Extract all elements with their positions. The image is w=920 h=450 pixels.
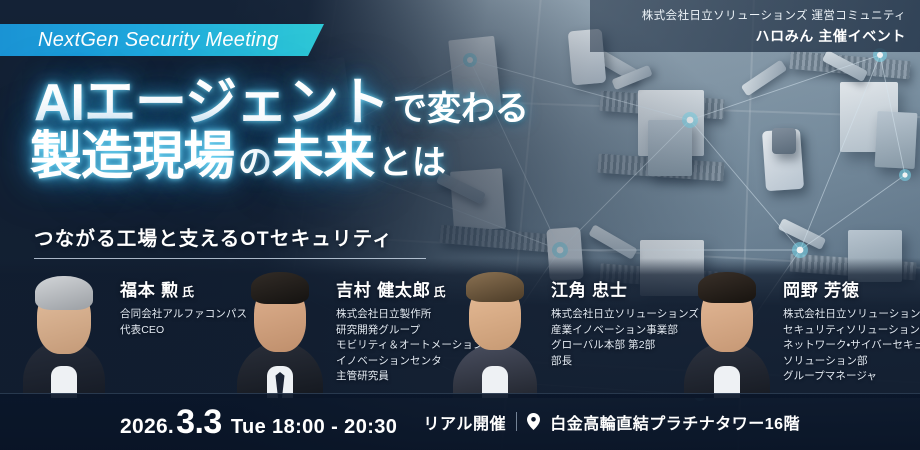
headline-keyword-future: 未来	[272, 128, 374, 186]
organizer-plate: 株式会社日立ソリューションズ 運営コミュニティ ハロみん 主催イベント	[590, 0, 920, 52]
headline-particle: の	[234, 135, 272, 184]
headline-tail-1: で変わる	[389, 81, 529, 130]
speaker-card-3: 江角 忠士 株式会社日立ソリューションズ 産業イノベーション事業部 グローバル本…	[447, 262, 679, 398]
speaker-name-1: 福本 勲氏	[120, 276, 247, 301]
event-series-label: NextGen Security Meeting	[0, 29, 279, 52]
speaker-portrait-1	[18, 262, 110, 398]
affiliation-line: 株式会社日立ソリューションズ	[783, 307, 920, 323]
footer-divider	[516, 412, 517, 431]
speaker-affiliation-3: 株式会社日立ソリューションズ 産業イノベーション事業部 グローバル本部 第2部 …	[551, 307, 699, 369]
speaker-portrait-2	[234, 262, 326, 398]
organizer-host: ハロみん 主催イベント	[756, 26, 907, 46]
headline-line-2: 製造現場 の 未来 とは	[30, 128, 646, 186]
speaker-card-2: 吉村 健太郎氏 株式会社日立製作所 研究開発グループ モビリティ＆オートメーショ…	[232, 262, 447, 398]
event-footer-bar: 2026. 3.3 Tue 18:00 - 20:30 リアル開催 白金高輪直結…	[0, 393, 920, 450]
speaker-portrait-3	[449, 262, 541, 398]
speaker-list: 福本 勲氏 合同会社アルファコンパス 代表CEO 吉村 健太郎氏 株式会社日立製…	[0, 262, 920, 398]
affiliation-line: セキュリティソリューション事業部	[783, 323, 920, 339]
speaker-card-1: 福本 勲氏 合同会社アルファコンパス 代表CEO	[0, 262, 232, 398]
speaker-honorific-2: 氏	[434, 285, 446, 299]
organizer-community: 株式会社日立ソリューションズ 運営コミュニティ	[642, 7, 906, 23]
affiliation-line: 産業イノベーション事業部	[551, 323, 699, 339]
headline-block: AIエージェント で変わる 製造現場 の 未来 とは	[26, 74, 646, 186]
speaker-info-4: 岡野 芳徳 株式会社日立ソリューションズ セキュリティソリューション事業部 ネッ…	[773, 262, 920, 385]
venue-name: 白金高輪直結プラチナタワー16階	[550, 410, 800, 434]
speaker-portrait-4	[681, 262, 773, 398]
subtitle-text: つながる工場と支えるOTセキュリティ	[34, 222, 426, 251]
affiliation-line: ネットワーク・サイバーセキュリティ	[783, 338, 920, 354]
headline-line-1: AIエージェント で変わる	[34, 74, 646, 132]
affiliation-line: グローバル本部 第2部	[551, 338, 699, 354]
event-datetime: 2026. 3.3 Tue 18:00 - 20:30	[120, 405, 397, 439]
affiliation-line: 代表CEO	[120, 323, 247, 339]
affiliation-line: 部長	[551, 354, 699, 370]
event-day: 3.3	[176, 405, 222, 439]
headline-keyword-factory: 製造現場	[30, 128, 234, 186]
speaker-info-1: 福本 勲氏 合同会社アルファコンパス 代表CEO	[110, 262, 247, 338]
subtitle-block: つながる工場と支えるOTセキュリティ	[34, 222, 426, 259]
map-pin-icon	[527, 413, 540, 430]
speaker-affiliation-1: 合同会社アルファコンパス 代表CEO	[120, 307, 247, 338]
affiliation-line: ソリューション部	[783, 354, 920, 370]
event-series-ribbon: NextGen Security Meeting	[0, 24, 324, 56]
speaker-info-3: 江角 忠士 株式会社日立ソリューションズ 産業イノベーション事業部 グローバル本…	[541, 262, 699, 369]
event-format-label: リアル開催	[423, 410, 506, 434]
event-year: 2026.	[120, 415, 174, 439]
speaker-card-4: 岡野 芳徳 株式会社日立ソリューションズ セキュリティソリューション事業部 ネッ…	[679, 262, 920, 398]
event-venue: リアル開催 白金高輪直結プラチナタワー16階	[423, 410, 800, 434]
speaker-honorific-1: 氏	[182, 285, 194, 299]
event-banner: 株式会社日立ソリューションズ 運営コミュニティ ハロみん 主催イベント Next…	[0, 0, 920, 450]
speaker-name-4: 岡野 芳徳	[783, 276, 920, 301]
headline-tail-2: とは	[374, 135, 446, 184]
affiliation-line: 株式会社日立ソリューションズ	[551, 307, 699, 323]
speaker-name-3: 江角 忠士	[551, 276, 699, 301]
event-time: Tue 18:00 - 20:30	[231, 416, 398, 439]
headline-keyword-ai-agent: AIエージェント	[34, 74, 389, 132]
speaker-affiliation-4: 株式会社日立ソリューションズ セキュリティソリューション事業部 ネットワーク・サ…	[783, 307, 920, 385]
affiliation-line: 合同会社アルファコンパス	[120, 307, 247, 323]
affiliation-line: グループマネージャ	[783, 369, 920, 385]
